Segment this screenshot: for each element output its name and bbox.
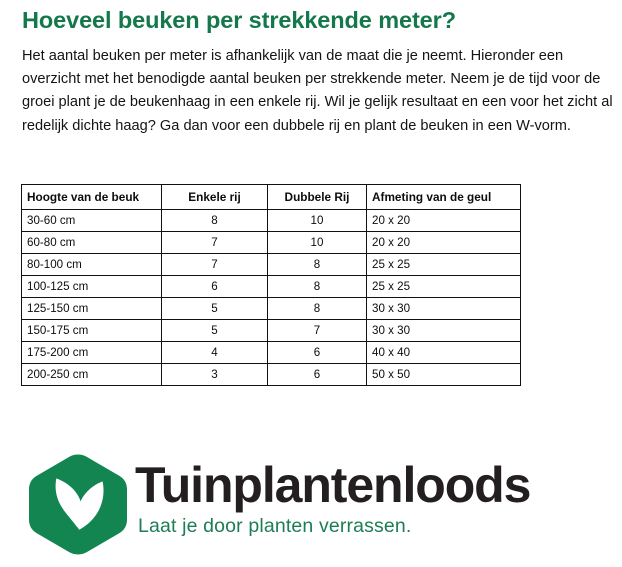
cell-double-row: 6 [268,342,367,364]
cell-double-row: 7 [268,320,367,342]
table-row: 60-80 cm71020 x 20 [22,232,521,254]
cell-double-row: 10 [268,210,367,232]
brand-wordmark: Tuinplantenloods [135,457,530,513]
article-page: Hoeveel beuken per strekkende meter? Het… [0,0,622,567]
cell-trench-size: 20 x 20 [367,232,521,254]
cell-trench-size: 40 x 40 [367,342,521,364]
table-row: 30-60 cm81020 x 20 [22,210,521,232]
cell-double-row: 8 [268,276,367,298]
table-row: 100-125 cm6825 x 25 [22,276,521,298]
column-header-double-row: Dubbele Rij [268,185,367,210]
table-header-row: Hoogte van de beuk Enkele rij Dubbele Ri… [22,185,521,210]
cell-height: 200-250 cm [22,364,162,386]
cell-trench-size: 30 x 30 [367,320,521,342]
cell-trench-size: 30 x 30 [367,298,521,320]
cell-height: 30-60 cm [22,210,162,232]
cell-trench-size: 25 x 25 [367,254,521,276]
cell-height: 150-175 cm [22,320,162,342]
brand-tagline: Laat je door planten verrassen. [138,513,412,539]
cell-double-row: 8 [268,298,367,320]
table: Hoogte van de beuk Enkele rij Dubbele Ri… [21,184,521,386]
cell-single-row: 8 [162,210,268,232]
cell-trench-size: 20 x 20 [367,210,521,232]
table-header: Hoogte van de beuk Enkele rij Dubbele Ri… [22,185,521,210]
cell-height: 80-100 cm [22,254,162,276]
cell-single-row: 7 [162,254,268,276]
cell-height: 60-80 cm [22,232,162,254]
column-header-trench-size: Afmeting van de geul [367,185,521,210]
cell-height: 100-125 cm [22,276,162,298]
page-title: Hoeveel beuken per strekkende meter? [22,5,602,35]
table-row: 80-100 cm7825 x 25 [22,254,521,276]
logo-text-block: Tuinplantenloods Laat je door planten ve… [135,451,618,559]
column-header-single-row: Enkele rij [162,185,268,210]
table-row: 175-200 cm4640 x 40 [22,342,521,364]
cell-single-row: 6 [162,276,268,298]
cell-single-row: 4 [162,342,268,364]
cell-single-row: 5 [162,298,268,320]
intro-paragraph: Het aantal beuken per meter is afhankeli… [22,45,616,138]
cell-double-row: 8 [268,254,367,276]
brand-logo: Tuinplantenloods Laat je door planten ve… [28,451,618,559]
cell-single-row: 3 [162,364,268,386]
cell-single-row: 7 [162,232,268,254]
table-row: 200-250 cm3650 x 50 [22,364,521,386]
cell-height: 125-150 cm [22,298,162,320]
table-row: 125-150 cm5830 x 30 [22,298,521,320]
table-row: 150-175 cm5730 x 30 [22,320,521,342]
cell-double-row: 6 [268,364,367,386]
cell-trench-size: 50 x 50 [367,364,521,386]
cell-single-row: 5 [162,320,268,342]
planting-density-table: Hoogte van de beuk Enkele rij Dubbele Ri… [21,184,476,386]
cell-trench-size: 25 x 25 [367,276,521,298]
hexagon-leaves-icon [28,453,128,556]
cell-height: 175-200 cm [22,342,162,364]
table-body: 30-60 cm81020 x 2060-80 cm71020 x 2080-1… [22,210,521,386]
cell-double-row: 10 [268,232,367,254]
column-header-height: Hoogte van de beuk [22,185,162,210]
